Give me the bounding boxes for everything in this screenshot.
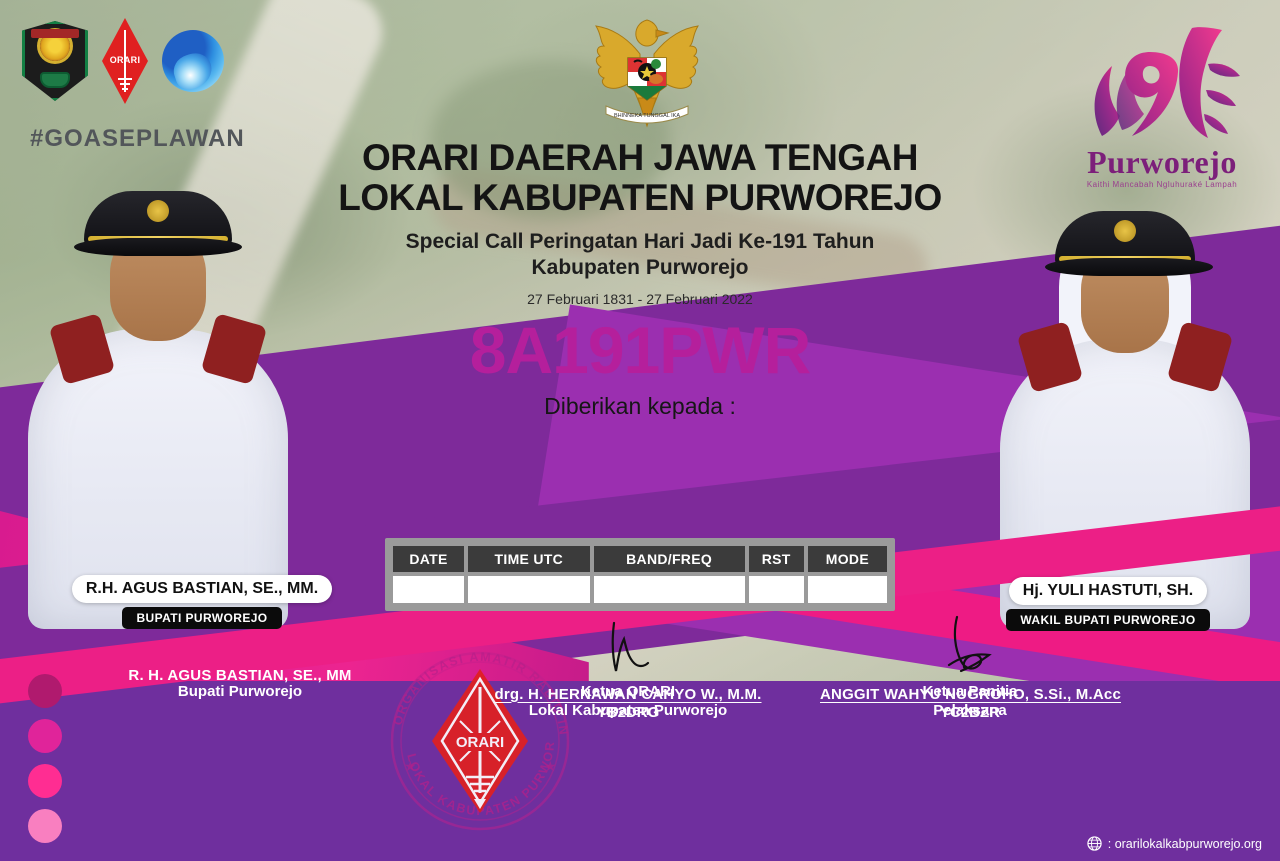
signature-block-ketua-orari: Ketua ORARI Lokal Kabupaten Purworejo dr… <box>478 683 778 721</box>
garuda-pancasila-emblem-icon: BHINNEKA TUNGGAL IKA <box>588 12 706 132</box>
wakil-bupati-name: Hj. YULI HASTUTI, SH. <box>1009 577 1207 605</box>
qso-cell-band-freq[interactable] <box>594 576 745 603</box>
qso-cell-mode[interactable] <box>808 576 887 603</box>
qso-col-band-freq: BAND/FREQ <box>594 546 745 572</box>
purworejo-tagline: Kaithi Mancabah Ngluhuraké Lampah <box>1072 180 1252 189</box>
website-url[interactable]: : orarilokalkabpurworejo.org <box>1108 837 1262 851</box>
subtitle-line-2: Kabupaten Purworejo <box>0 255 1280 281</box>
kominfo-logo-icon <box>162 30 224 92</box>
qso-cell-time-utc[interactable] <box>468 576 590 603</box>
orari-logo-label: ORARI <box>102 55 148 65</box>
special-callsign: 8A191PWR <box>0 317 1280 383</box>
qso-col-date: DATE <box>393 546 464 572</box>
given-to-label: Diberikan kepada : <box>0 393 1280 420</box>
kabupaten-purworejo-coat-of-arms-icon <box>22 21 88 101</box>
sig-name-ketua-panitia: ANGGIT WAHYU NUGROHO, S.Si., M.Acc <box>820 686 1120 703</box>
qso-header-row: DATE TIME UTC BAND/FREQ RST MODE <box>393 546 887 572</box>
qso-col-mode: MODE <box>808 546 887 572</box>
globe-icon <box>1087 836 1102 851</box>
qso-col-rst: RST <box>749 546 804 572</box>
handwritten-signature-ketua-orari <box>568 617 688 679</box>
signature-block-bupati: Bupati Purworejo R. H. AGUS BASTIAN, SE.… <box>95 683 385 702</box>
wakil-bupati-role: WAKIL BUPATI PURWOREJO <box>1006 609 1209 631</box>
event-date-range: 27 Februari 1831 - 27 Februari 2022 <box>0 291 1280 307</box>
sig-role-bupati: Bupati Purworejo <box>95 683 385 702</box>
qsl-card: ORARI #GOASEPLAWAN <box>0 0 1280 861</box>
purworejo-91-mark-icon <box>1072 18 1252 146</box>
sig-name-bupati: R. H. AGUS BASTIAN, SE., MM <box>95 667 385 684</box>
sig-callsign-ketua-panitia: YC2BZR <box>820 704 1120 721</box>
sig-callsign-ketua-orari: YB2DRG <box>478 704 778 721</box>
signature-section: Bupati Purworejo R. H. AGUS BASTIAN, SE.… <box>0 683 1280 833</box>
header-logo-group: ORARI <box>22 18 224 104</box>
nameplate-bupati: R.H. AGUS BASTIAN, SE., MM. BUPATI PURWO… <box>52 575 352 629</box>
bupati-name: R.H. AGUS BASTIAN, SE., MM. <box>72 575 332 603</box>
orari-diamond-logo-icon: ORARI <box>102 18 148 104</box>
website-footer[interactable]: : orarilokalkabpurworejo.org <box>1087 836 1262 851</box>
campaign-hashtag: #GOASEPLAWAN <box>30 125 245 153</box>
bupati-role: BUPATI PURWOREJO <box>122 607 281 629</box>
svg-text:BHINNEKA TUNGGAL IKA: BHINNEKA TUNGGAL IKA <box>614 113 680 119</box>
purworejo-91-logo: Purworejo Kaithi Mancabah Ngluhuraké Lam… <box>1072 18 1252 213</box>
sig-name-ketua-orari: drg. H. HERNAWAN CAHYO W., M.M. <box>478 686 778 703</box>
qso-cell-date[interactable] <box>393 576 464 603</box>
qso-col-time-utc: TIME UTC <box>468 546 590 572</box>
handwritten-signature-ketua-panitia <box>905 613 1035 679</box>
purworejo-wordmark: Purworejo <box>1072 146 1252 178</box>
qso-log-table[interactable]: DATE TIME UTC BAND/FREQ RST MODE <box>385 538 895 611</box>
qso-cell-rst[interactable] <box>749 576 804 603</box>
qso-data-row[interactable] <box>393 576 887 603</box>
signature-block-ketua-panitia: Ketua Panitia Pelaksana ANGGIT WAHYU NUG… <box>820 683 1120 721</box>
subtitle-line-1: Special Call Peringatan Hari Jadi Ke-191… <box>0 229 1280 255</box>
